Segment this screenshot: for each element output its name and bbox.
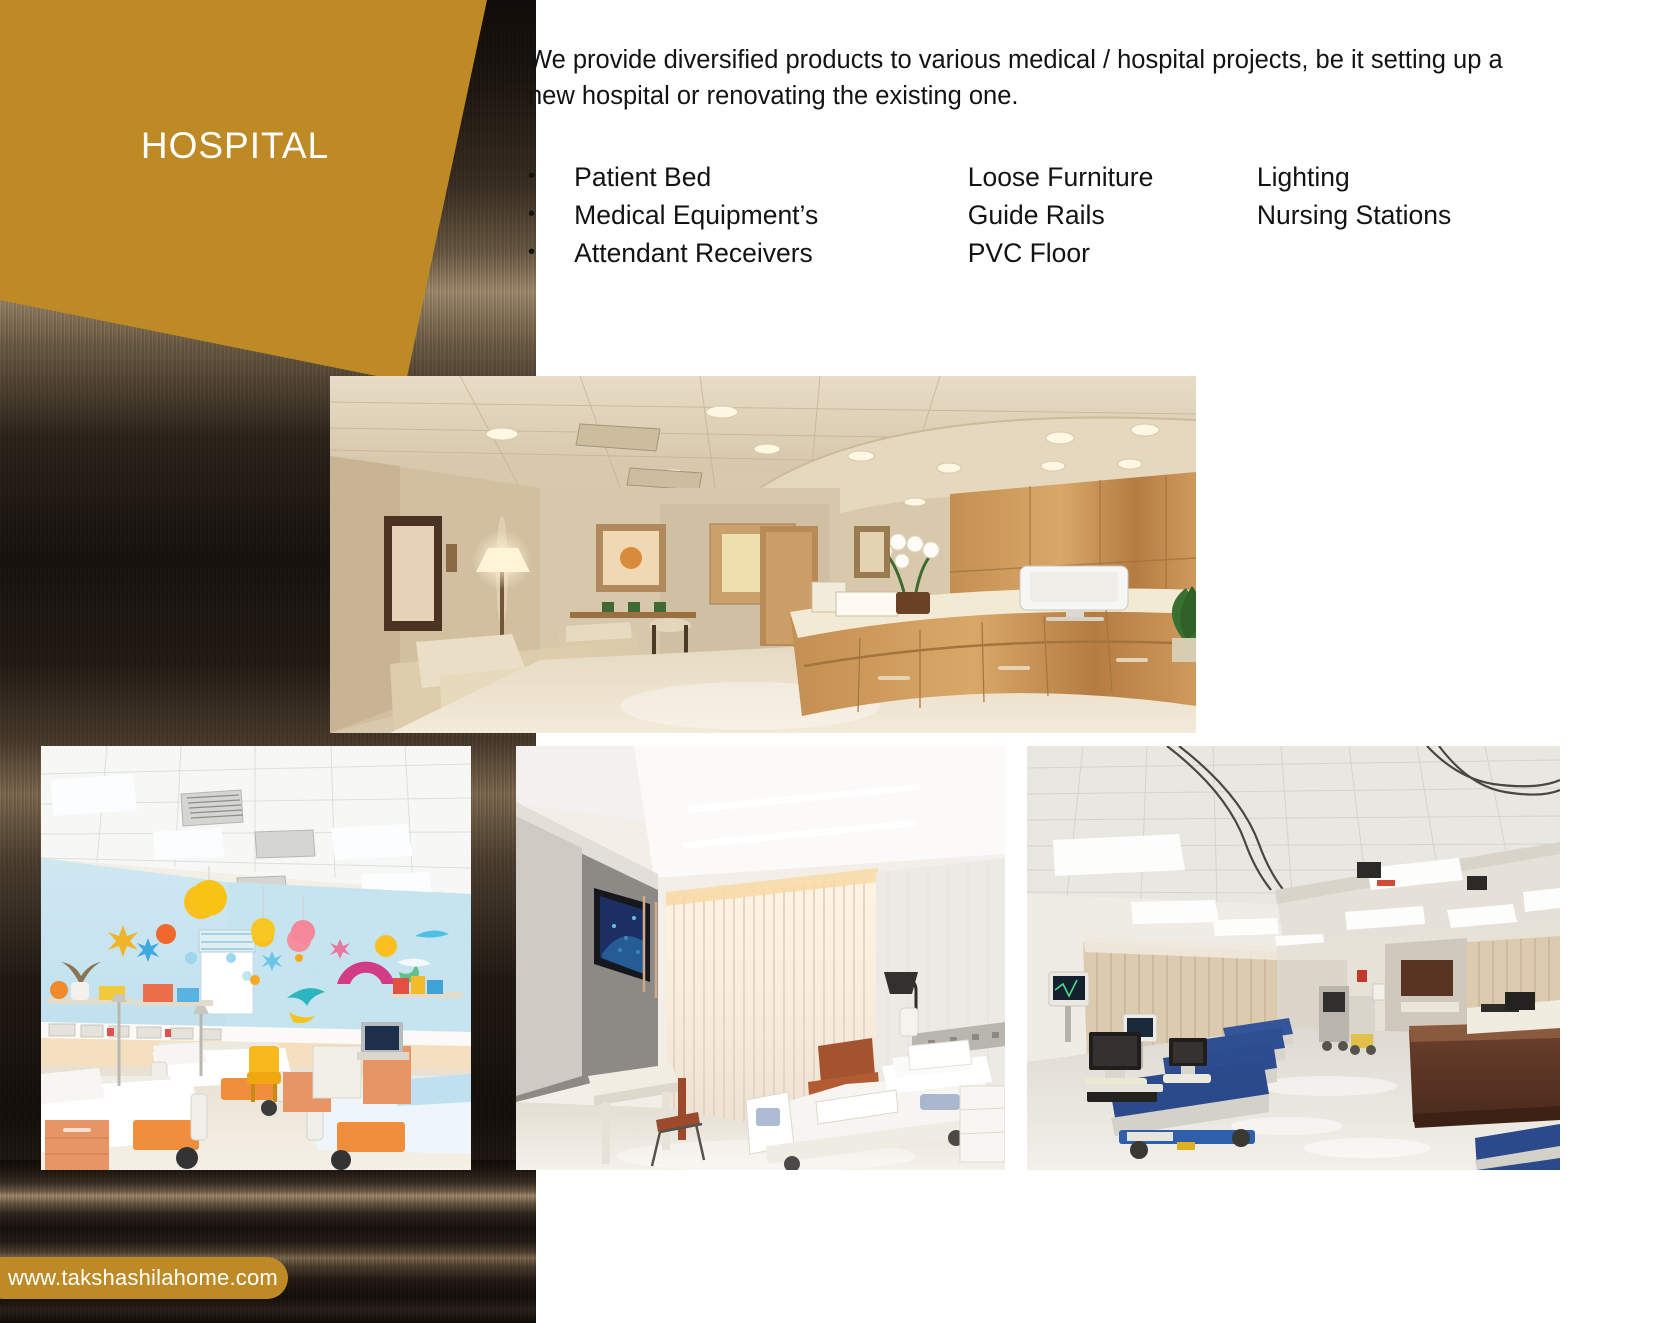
slide-canvas: HOSPITAL We provide diversified products…: [0, 0, 1673, 1323]
feature-cell: Attendant Receivers: [574, 234, 968, 272]
feature-cell: Guide Rails: [968, 196, 1257, 234]
pediatric-ward-photo: [41, 746, 471, 1170]
hospital-reception-photo: [330, 376, 1196, 733]
website-url: www.takshashilahome.com: [0, 1265, 278, 1291]
feature-cell: PVC Floor: [968, 234, 1257, 272]
website-badge[interactable]: www.takshashilahome.com: [0, 1257, 288, 1299]
bullet-icon: •: [528, 196, 574, 234]
feature-row: • Medical Equipment’s Guide Rails Nursin…: [528, 196, 1538, 234]
bullet-icon: •: [528, 234, 574, 272]
feature-row: • Attendant Receivers PVC Floor: [528, 234, 1538, 272]
feature-cell: Patient Bed: [574, 158, 968, 196]
page-title: HOSPITAL: [0, 126, 470, 167]
feature-cell: Nursing Stations: [1257, 196, 1538, 234]
feature-cell: Medical Equipment’s: [574, 196, 968, 234]
emergency-bay-nursing-station-photo: [1027, 746, 1560, 1170]
feature-row: • Patient Bed Loose Furniture Lighting: [528, 158, 1538, 196]
feature-cell: [1257, 234, 1538, 272]
intro-paragraph: We provide diversified products to vario…: [528, 42, 1528, 114]
bullet-icon: •: [528, 158, 574, 196]
feature-list: • Patient Bed Loose Furniture Lighting •…: [528, 158, 1538, 272]
feature-cell: Lighting: [1257, 158, 1538, 196]
feature-cell: Loose Furniture: [968, 158, 1257, 196]
private-patient-room-photo: [516, 746, 1005, 1170]
